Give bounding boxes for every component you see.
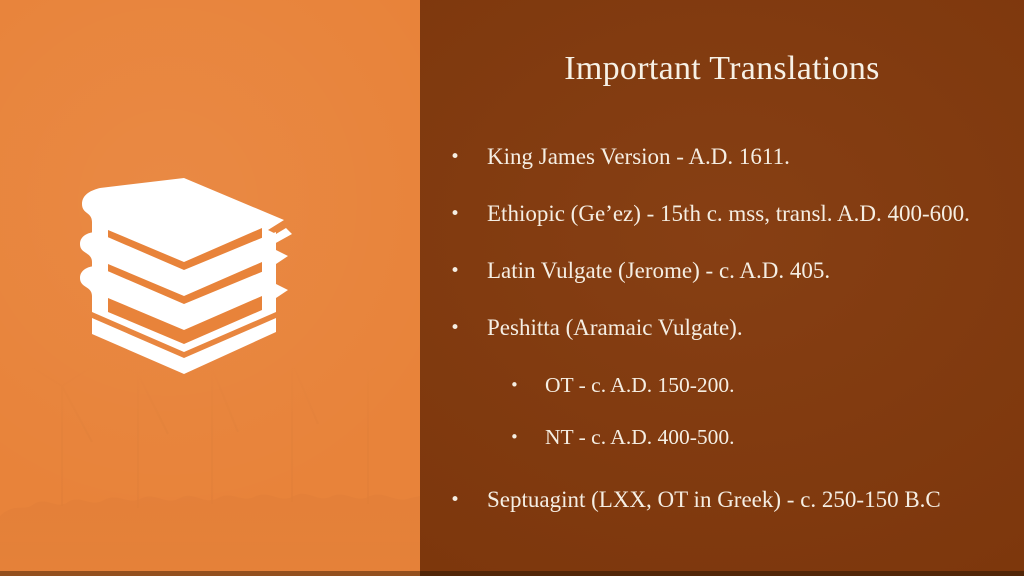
left-image-panel (0, 0, 420, 576)
bullet-item-peshitta: • Peshitta (Aramaic Vulgate). (450, 313, 1024, 343)
bullet-item-latin-vulgate: • Latin Vulgate (Jerome) - c. A.D. 405. (450, 256, 1024, 286)
bullet-item-king-james: • King James Version - A.D. 1611. (450, 142, 1024, 172)
stack-of-books-icon (70, 178, 300, 394)
bullet-point-icon: • (510, 422, 545, 452)
sub-bullet-item-nt: • NT - c. A.D. 400-500. (450, 422, 1024, 452)
sub-bullet-item-ot: • OT - c. A.D. 150-200. (450, 370, 1024, 400)
page-title: Important Translations (420, 48, 1024, 90)
bullet-point-icon: • (510, 370, 545, 400)
bullet-point-icon: • (450, 485, 487, 515)
bullet-point-icon: • (450, 142, 487, 172)
bullet-item-septuagint: • Septuagint (LXX, OT in Greek) - c. 250… (450, 485, 1024, 515)
bullet-text: Latin Vulgate (Jerome) - c. A.D. 405. (487, 256, 1024, 286)
slide-bottom-edge-strip (420, 571, 1024, 576)
bullet-item-ethiopic: • Ethiopic (Ge’ez) - 15th c. mss, transl… (450, 199, 1024, 229)
bullet-text: OT - c. A.D. 150-200. (545, 370, 1024, 400)
bullet-text: Peshitta (Aramaic Vulgate). (487, 313, 1024, 343)
bullet-point-icon: • (450, 313, 487, 343)
bullet-text: Septuagint (LXX, OT in Greek) - c. 250-1… (487, 485, 1024, 515)
bullet-text: King James Version - A.D. 1611. (487, 142, 1024, 172)
bullet-list: • King James Version - A.D. 1611. • Ethi… (450, 142, 1024, 542)
bullet-text: NT - c. A.D. 400-500. (545, 422, 1024, 452)
bullet-point-icon: • (450, 199, 487, 229)
bullet-text: Ethiopic (Ge’ez) - 15th c. mss, transl. … (487, 199, 1024, 229)
left-bottom-edge-strip (0, 571, 420, 576)
content-panel: Important Translations • King James Vers… (420, 0, 1024, 576)
bullet-point-icon: • (450, 256, 487, 286)
presentation-slide: Important Translations • King James Vers… (0, 0, 1024, 576)
